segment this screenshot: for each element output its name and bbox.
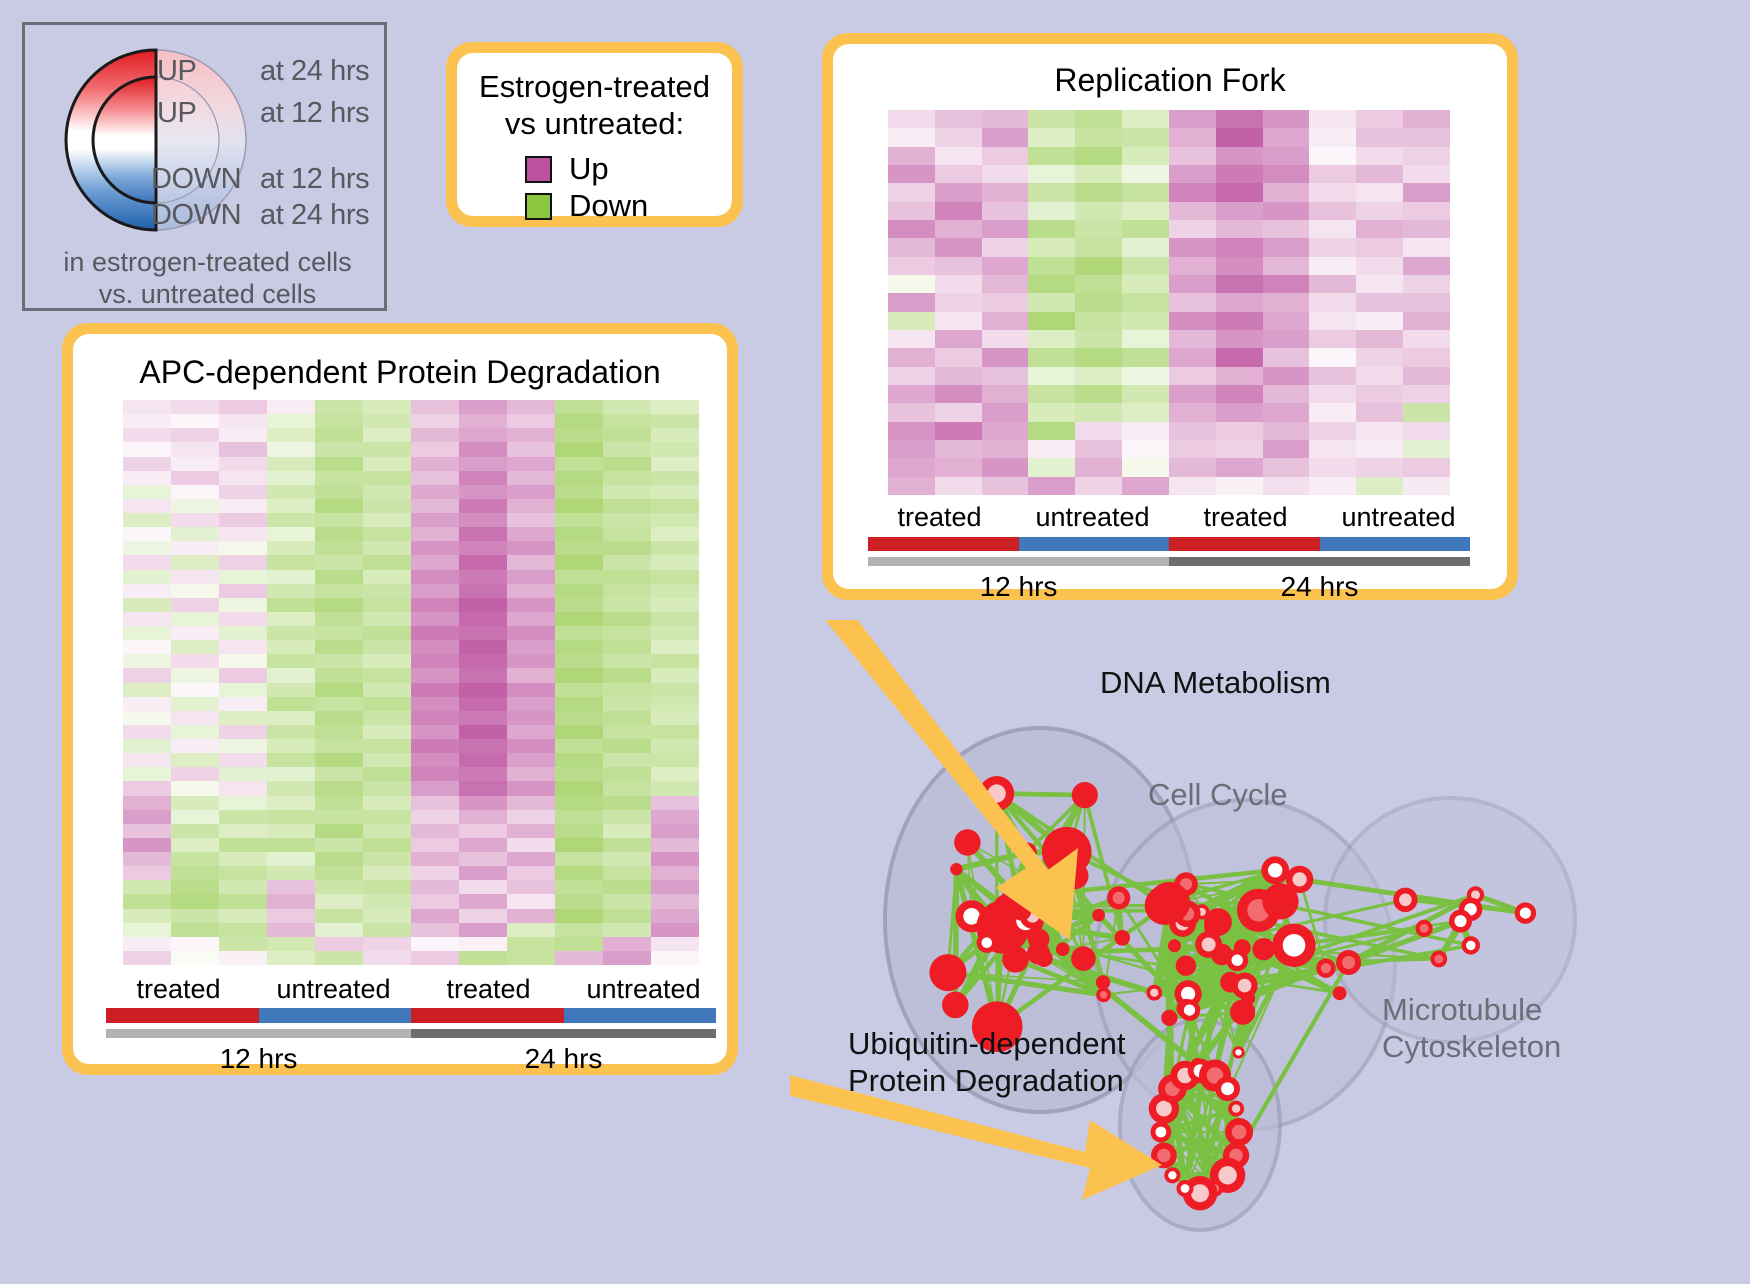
heatmap-cell (935, 110, 982, 128)
network-node[interactable] (1416, 920, 1433, 937)
heatmap-cell (315, 866, 363, 880)
heatmap-cell (651, 711, 699, 725)
heatmap-cell (1403, 110, 1450, 128)
network-node[interactable] (1071, 946, 1096, 971)
network-node[interactable] (1232, 973, 1258, 999)
heatmap-cell (267, 824, 315, 838)
heatmap-cell (888, 110, 935, 128)
wheel-label-down-24-time: at 24 hrs (260, 199, 369, 232)
heatmap-cell (123, 767, 171, 781)
heatmap-cell (935, 183, 982, 201)
heatmap-cell (1309, 110, 1356, 128)
heatmap-cell (363, 951, 411, 965)
network-node[interactable] (1161, 1010, 1177, 1026)
heatmap-row (888, 110, 1450, 128)
heatmap-cell (651, 668, 699, 682)
heatmap-cell (219, 852, 267, 866)
heatmap-cell (555, 668, 603, 682)
heatmap-cell (411, 598, 459, 612)
heatmap-cell (363, 739, 411, 753)
heatmap-cell (267, 796, 315, 810)
heatmap-row (123, 937, 699, 951)
network-node[interactable] (1151, 1122, 1172, 1143)
heatmap-cell (603, 725, 651, 739)
heatmap-cell (411, 541, 459, 555)
network-node[interactable] (1272, 924, 1315, 967)
heatmap-cell (171, 640, 219, 654)
heatmap-cell (267, 400, 315, 414)
heatmap-cell (555, 824, 603, 838)
timepoint-label: 12 hrs (868, 571, 1169, 603)
heatmap-cell (219, 838, 267, 852)
condition-label: treated (411, 974, 566, 1005)
condition-label: untreated (256, 974, 411, 1005)
heatmap-cell (935, 422, 982, 440)
heatmap-cell (267, 838, 315, 852)
heatmap-cell (267, 866, 315, 880)
heatmap-cell (982, 330, 1029, 348)
heatmap-cell (411, 894, 459, 908)
wheel-label-up-12-value: UP (157, 97, 197, 130)
heatmap-cell (315, 640, 363, 654)
heatmap-cell (1356, 312, 1403, 330)
heatmap-cell (1169, 202, 1216, 220)
heatmap-cell (363, 428, 411, 442)
heatmap-cell (219, 442, 267, 456)
wheel-label-up-24-value: UP (157, 55, 197, 88)
heatmap-cell (1169, 220, 1216, 238)
heatmap-row (123, 683, 699, 697)
network-node[interactable] (1262, 883, 1298, 919)
heatmap-cell (1075, 422, 1122, 440)
heatmap-cell (651, 923, 699, 937)
network-node[interactable] (1232, 1046, 1244, 1058)
heatmap-row (888, 202, 1450, 220)
heatmap-row (888, 458, 1450, 476)
heatmap-cell (1169, 367, 1216, 385)
heatmap-row (123, 810, 699, 824)
heatmap-cell (123, 781, 171, 795)
network-node-core (1113, 892, 1125, 904)
heatmap-cell (555, 485, 603, 499)
heatmap-cell (1122, 312, 1169, 330)
heatmap-cell (507, 612, 555, 626)
heatmap-cell (459, 668, 507, 682)
heatmap-cell (1263, 275, 1310, 293)
heatmap-cell (1169, 257, 1216, 275)
heatmap-cell (459, 767, 507, 781)
heatmap-cell (555, 810, 603, 824)
heatmap-cell (123, 937, 171, 951)
heatmap-cell (123, 951, 171, 965)
network-node[interactable] (1225, 1118, 1253, 1146)
replication-fork-condition-bar (868, 537, 1470, 551)
heatmap-cell (603, 781, 651, 795)
network-node[interactable] (942, 992, 969, 1019)
network-node-outer (1149, 882, 1191, 924)
heatmap-cell (603, 584, 651, 598)
heatmap-cell (363, 668, 411, 682)
condition-color-segment (1169, 537, 1320, 551)
heatmap-cell (982, 183, 1029, 201)
network-node-core (1420, 924, 1429, 933)
heatmap-row (888, 348, 1450, 366)
heatmap-cell (651, 937, 699, 951)
heatmap-row (123, 767, 699, 781)
heatmap-cell (411, 753, 459, 767)
heatmap-cell (123, 923, 171, 937)
heatmap-cell (935, 147, 982, 165)
network-node-core (1218, 1166, 1236, 1184)
heatmap-cell (315, 796, 363, 810)
heatmap-cell (171, 414, 219, 428)
network-node-outer (1002, 946, 1029, 973)
heatmap-cell (888, 202, 935, 220)
network-node-core (1455, 915, 1467, 927)
network-node[interactable] (1107, 886, 1130, 909)
network-node-core (1466, 941, 1476, 951)
heatmap-cell (507, 937, 555, 951)
heatmap-cell (982, 165, 1029, 183)
heatmap-cell (1216, 257, 1263, 275)
network-node[interactable] (1215, 1076, 1240, 1101)
network-node-core (1156, 1127, 1167, 1138)
heatmap-cell (315, 471, 363, 485)
network-node[interactable] (1096, 987, 1111, 1002)
heatmap-cell (267, 753, 315, 767)
network-node[interactable] (950, 863, 962, 875)
network-node[interactable] (1002, 946, 1029, 973)
network-node-outer (1071, 946, 1096, 971)
timepoint-label: 24 hrs (1169, 571, 1470, 603)
heatmap-cell (982, 275, 1029, 293)
heatmap-cell (411, 852, 459, 866)
network-node[interactable] (1177, 1180, 1194, 1197)
heatmap-cell (1122, 238, 1169, 256)
heatmap-cell (1169, 422, 1216, 440)
heatmap-cell (171, 796, 219, 810)
heatmap-row (123, 640, 699, 654)
network-node[interactable] (1230, 1000, 1255, 1025)
heatmap-cell (603, 442, 651, 456)
heatmap-cell (411, 485, 459, 499)
heatmap-cell (171, 668, 219, 682)
heatmap-cell (171, 824, 219, 838)
network-node[interactable] (954, 829, 980, 855)
heatmap-cell (123, 428, 171, 442)
heatmap-cell (603, 400, 651, 414)
network-node[interactable] (1462, 936, 1480, 954)
network-node[interactable] (1204, 919, 1221, 936)
heatmap-cell (935, 477, 982, 495)
network-node[interactable] (1092, 909, 1105, 922)
heatmap-cell (123, 541, 171, 555)
heatmap-cell (935, 312, 982, 330)
heatmap-cell (507, 753, 555, 767)
heatmap-cell (123, 824, 171, 838)
legend-title-line2: vs untreated: (457, 106, 732, 143)
heatmap-cell (1216, 385, 1263, 403)
heatmap-cell (1216, 440, 1263, 458)
heatmap-cell (1122, 128, 1169, 146)
heatmap-cell (459, 541, 507, 555)
heatmap-cell (555, 442, 603, 456)
heatmap-cell (651, 753, 699, 767)
heatmap-cell (507, 428, 555, 442)
heatmap-cell (171, 725, 219, 739)
apc-degradation-time-labels: 12 hrs24 hrs (106, 1043, 716, 1075)
heatmap-cell (171, 880, 219, 894)
heatmap-cell (982, 348, 1029, 366)
heatmap-cell (603, 923, 651, 937)
heatmap-cell (219, 499, 267, 513)
network-node-core (1293, 872, 1307, 886)
heatmap-row (123, 442, 699, 456)
heatmap-cell (219, 866, 267, 880)
heatmap-cell (267, 937, 315, 951)
replication-fork-time-labels: 12 hrs24 hrs (868, 571, 1470, 603)
timepoint-color-segment (106, 1029, 411, 1038)
network-node[interactable] (1164, 1167, 1180, 1183)
heatmap-cell (363, 598, 411, 612)
network-node[interactable] (1515, 902, 1536, 923)
heatmap-cell (1075, 275, 1122, 293)
heatmap-cell (1309, 330, 1356, 348)
heatmap-cell (507, 598, 555, 612)
heatmap-cell (363, 513, 411, 527)
heatmap-cell (171, 909, 219, 923)
heatmap-cell (219, 824, 267, 838)
heatmap-cell (315, 541, 363, 555)
heatmap-cell (1028, 128, 1075, 146)
network-node[interactable] (1228, 1101, 1244, 1117)
heatmap-row (123, 697, 699, 711)
heatmap-cell (1263, 477, 1310, 495)
heatmap-cell (219, 584, 267, 598)
heatmap-cell (603, 485, 651, 499)
heatmap-cell (603, 654, 651, 668)
heatmap-cell (1356, 422, 1403, 440)
heatmap-cell (171, 442, 219, 456)
heatmap-cell (507, 880, 555, 894)
network-node-outer (1114, 930, 1130, 946)
heatmap-cell (363, 654, 411, 668)
network-node-core (1191, 1184, 1209, 1202)
network-node[interactable] (1430, 951, 1447, 968)
heatmap-cell (219, 923, 267, 937)
legend-title-line1: Estrogen-treated (457, 69, 732, 106)
heatmap-cell (982, 403, 1029, 421)
heatmap-cell (507, 513, 555, 527)
heatmap-cell (1075, 367, 1122, 385)
heatmap-cell (315, 739, 363, 753)
heatmap-cell (1169, 458, 1216, 476)
heatmap-cell (411, 880, 459, 894)
heatmap-cell (1309, 202, 1356, 220)
heatmap-cell (603, 796, 651, 810)
heatmap-cell (651, 584, 699, 598)
heatmap-cell (1169, 330, 1216, 348)
heatmap-cell (555, 640, 603, 654)
heatmap-cell (888, 403, 935, 421)
heatmap-cell (1028, 312, 1075, 330)
network-node[interactable] (1114, 930, 1130, 946)
timepoint-color-segment (868, 557, 1169, 566)
network-node-outer (929, 954, 966, 991)
heatmap-cell (982, 312, 1029, 330)
heatmap-cell (1028, 440, 1075, 458)
heatmap-cell (315, 598, 363, 612)
heatmap-cell (603, 513, 651, 527)
network-node[interactable] (929, 954, 966, 991)
apc-degradation-condition-bar (106, 1008, 716, 1023)
network-node[interactable] (1336, 950, 1361, 975)
heatmap-cell (555, 683, 603, 697)
replication-fork-panel: Replication Fork treateduntreatedtreated… (822, 33, 1518, 600)
heatmap-cell (315, 781, 363, 795)
heatmap-cell (363, 485, 411, 499)
heatmap-row (123, 428, 699, 442)
network-node[interactable] (1316, 959, 1335, 978)
heatmap-cell (651, 598, 699, 612)
heatmap-cell (123, 739, 171, 753)
heatmap-cell (1309, 385, 1356, 403)
heatmap-cell (1122, 293, 1169, 311)
heatmap-cell (555, 414, 603, 428)
network-node[interactable] (977, 933, 997, 953)
heatmap-cell (219, 739, 267, 753)
heatmap-cell (555, 570, 603, 584)
heatmap-cell (1216, 367, 1263, 385)
heatmap-cell (1356, 458, 1403, 476)
heatmap-cell (123, 400, 171, 414)
heatmap-cell (411, 414, 459, 428)
heatmap-cell (315, 612, 363, 626)
heatmap-cell (1403, 275, 1450, 293)
heatmap-cell (267, 852, 315, 866)
condition-label: treated (1169, 502, 1322, 533)
network-node-core (1156, 1101, 1172, 1117)
heatmap-cell (935, 275, 982, 293)
heatmap-cell (1403, 348, 1450, 366)
heatmap-cell (1356, 220, 1403, 238)
network-node-core (1181, 987, 1195, 1001)
heatmap-cell (1028, 257, 1075, 275)
heatmap-cell (267, 725, 315, 739)
heatmap-cell (411, 457, 459, 471)
heatmap-cell (123, 640, 171, 654)
figure-canvas: UP at 24 hrs UP at 12 hrs DOWN at 12 hrs… (0, 0, 1750, 1279)
heatmap-cell (219, 640, 267, 654)
heatmap-row (123, 457, 699, 471)
heatmap-row (123, 923, 699, 937)
heatmap-row (888, 238, 1450, 256)
network-node[interactable] (1056, 942, 1070, 956)
condition-label: untreated (1322, 502, 1475, 533)
heatmap-cell (935, 128, 982, 146)
heatmap-cell (171, 810, 219, 824)
heatmap-cell (507, 442, 555, 456)
heatmap-row (888, 257, 1450, 275)
heatmap-cell (363, 909, 411, 923)
heatmap-cell (1356, 385, 1403, 403)
heatmap-cell (171, 852, 219, 866)
heatmap-cell (1356, 128, 1403, 146)
network-node-outer (1262, 883, 1298, 919)
heatmap-cell (219, 725, 267, 739)
heatmap-cell (1028, 202, 1075, 220)
network-node[interactable] (1072, 782, 1098, 808)
heatmap-cell (123, 499, 171, 513)
heatmap-cell (267, 457, 315, 471)
heatmap-cell (267, 428, 315, 442)
heatmap-cell (459, 414, 507, 428)
heatmap-cell (507, 767, 555, 781)
heatmap-cell (315, 626, 363, 640)
heatmap-cell (1028, 147, 1075, 165)
heatmap-cell (507, 894, 555, 908)
up-down-legend-panel: Estrogen-treated vs untreated: Up Down (446, 42, 743, 227)
heatmap-cell (555, 951, 603, 965)
heatmap-cell (603, 937, 651, 951)
heatmap-cell (1263, 385, 1310, 403)
heatmap-cell (1075, 183, 1122, 201)
heatmap-cell (1122, 257, 1169, 275)
heatmap-cell (1122, 477, 1169, 495)
network-node[interactable] (1261, 856, 1289, 884)
network-node[interactable] (1146, 985, 1162, 1001)
heatmap-cell (267, 570, 315, 584)
heatmap-cell (1216, 330, 1263, 348)
heatmap-cell (555, 711, 603, 725)
heatmap-cell (411, 555, 459, 569)
network-node[interactable] (1176, 956, 1196, 976)
network-node-outer (1072, 782, 1098, 808)
heatmap-cell (171, 527, 219, 541)
heatmap-cell (411, 513, 459, 527)
heatmap-cell (363, 442, 411, 456)
network-node[interactable] (1027, 942, 1050, 965)
heatmap-cell (1028, 348, 1075, 366)
heatmap-cell (1403, 238, 1450, 256)
heatmap-cell (651, 513, 699, 527)
network-node-core (1184, 1005, 1195, 1016)
heatmap-cell (1169, 385, 1216, 403)
heatmap-cell (507, 923, 555, 937)
network-node[interactable] (1253, 938, 1275, 960)
heatmap-cell (1263, 367, 1310, 385)
network-node[interactable] (1179, 999, 1201, 1021)
heatmap-cell (1028, 330, 1075, 348)
heatmap-cell (1169, 440, 1216, 458)
replication-fork-time-bar (868, 557, 1470, 566)
heatmap-cell (982, 422, 1029, 440)
heatmap-cell (459, 711, 507, 725)
heatmap-cell (888, 128, 935, 146)
network-node[interactable] (1149, 882, 1191, 924)
heatmap-cell (459, 725, 507, 739)
heatmap-cell (651, 838, 699, 852)
network-node[interactable] (1449, 910, 1472, 933)
network-node[interactable] (1393, 888, 1417, 912)
condition-color-segment (259, 1008, 412, 1023)
heatmap-cell (171, 866, 219, 880)
network-node-outer (1230, 1000, 1255, 1025)
network-node[interactable] (1168, 939, 1181, 952)
network-node[interactable] (1226, 949, 1248, 971)
network-node[interactable] (1333, 986, 1347, 1000)
heatmap-cell (888, 183, 935, 201)
